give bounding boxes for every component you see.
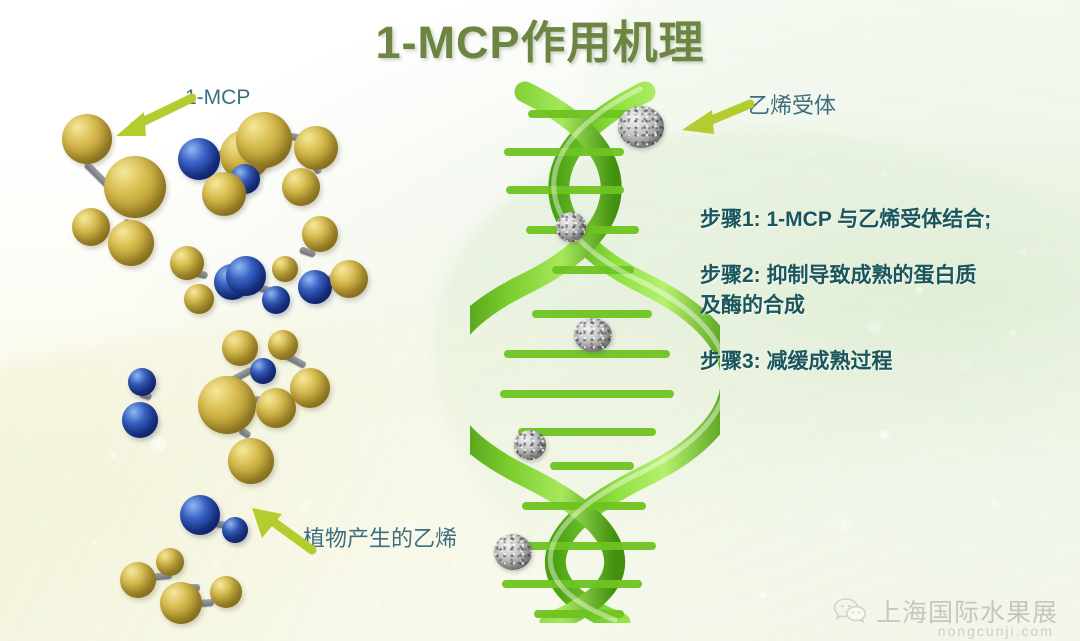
atom-gold (290, 368, 330, 408)
arrow-receptor-icon (672, 96, 754, 146)
bokeh-dot (38, 520, 46, 528)
atom-gold (198, 376, 256, 434)
bokeh-dot (452, 560, 458, 566)
atom-blue (226, 256, 266, 296)
bokeh-dot (930, 470, 943, 483)
watermark-sub: nongcunji.com (938, 623, 1054, 639)
atom-blue (250, 358, 276, 384)
atom-gold (184, 284, 214, 314)
label-ethylene-receptor: 乙烯受体 (748, 88, 836, 120)
bokeh-dot (760, 592, 766, 598)
atom-gold (268, 330, 298, 360)
wechat-icon (833, 597, 867, 625)
atom-gold (302, 216, 338, 252)
arrow-plant-ethylene-icon (242, 500, 320, 556)
atom-blue (180, 495, 220, 535)
step-3-line-1: 步骤3: 减缓成熟过程 (700, 350, 893, 373)
bokeh-dot (150, 436, 166, 452)
atom-gold (156, 548, 184, 576)
dna-helix (470, 78, 720, 623)
atom-gold (202, 172, 246, 216)
bokeh-dot (330, 470, 337, 477)
atom-gold (236, 112, 292, 168)
atom-gold (170, 246, 204, 280)
arrow-mcp-icon (104, 92, 196, 148)
atom-blue (122, 402, 158, 438)
atom-blue (128, 368, 156, 396)
receptor-upper-mid (556, 212, 586, 242)
label-plant-ethylene: 植物产生的乙烯 (303, 521, 457, 553)
step-2-line-1: 步骤2: 抑制导致成熟的蛋白质 (700, 264, 977, 287)
receptor-bottom (494, 534, 532, 570)
bokeh-dot (210, 560, 219, 569)
steps-list: 步骤1: 1-MCP 与乙烯受体结合; 步骤2: 抑制导致成熟的蛋白质 及酶的合… (700, 205, 1070, 403)
step-2-line-2: 及酶的合成 (700, 291, 1070, 321)
page-title: 1-MCP作用机理 (0, 6, 1080, 71)
bokeh-dot (110, 452, 117, 459)
atom-gold (272, 256, 298, 282)
receptor-lower-mid (514, 430, 546, 460)
atom-gold (330, 260, 368, 298)
bokeh-dot (196, 462, 205, 471)
receptor-mid (574, 318, 612, 352)
bokeh-dot (60, 470, 72, 482)
atom-gold (72, 208, 110, 246)
atom-gold (160, 582, 202, 624)
bokeh-dot (880, 430, 889, 439)
bokeh-dot (92, 540, 97, 545)
step-3: 步骤3: 减缓成熟过程 (700, 347, 1070, 377)
bokeh-dot (990, 500, 997, 507)
atom-gold (228, 438, 274, 484)
step-1-line-1: 步骤1: 1-MCP 与乙烯受体结合; (700, 208, 991, 231)
atom-gold (210, 576, 242, 608)
atom-gold (222, 330, 258, 366)
atom-gold (108, 220, 154, 266)
atom-gold (104, 156, 166, 218)
atom-blue (262, 286, 290, 314)
atom-gold (120, 562, 156, 598)
atom-blue (298, 270, 332, 304)
receptor-top (618, 106, 664, 148)
atom-gold (282, 168, 320, 206)
step-1: 步骤1: 1-MCP 与乙烯受体结合; (700, 205, 1070, 235)
bokeh-dot (880, 170, 887, 177)
bokeh-dot (840, 520, 850, 530)
atom-gold (294, 126, 338, 170)
slide-canvas: 1-MCP作用机理 (0, 0, 1080, 641)
step-2: 步骤2: 抑制导致成熟的蛋白质 及酶的合成 (700, 261, 1070, 321)
